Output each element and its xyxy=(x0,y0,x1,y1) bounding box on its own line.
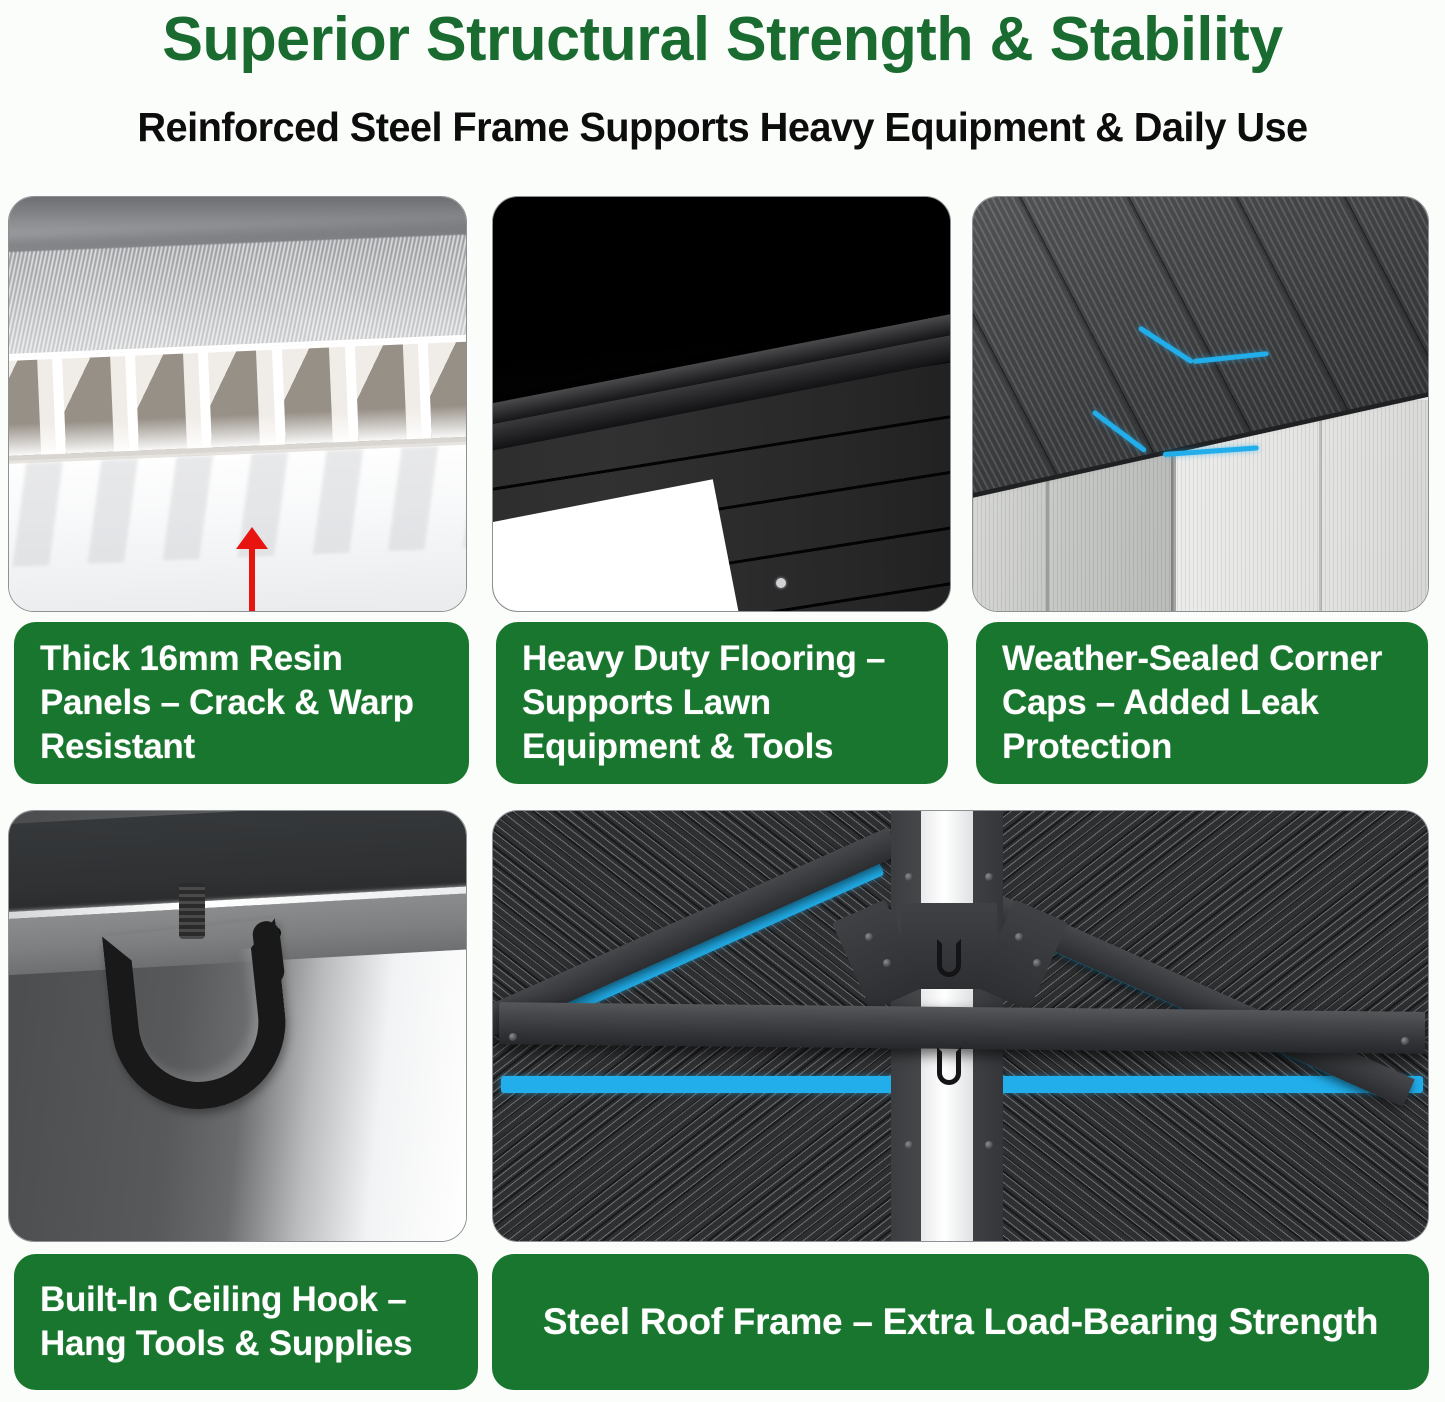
feature-image-resin-panels: 16mm xyxy=(8,196,467,612)
page-title: Superior Structural Strength & Stability xyxy=(11,4,1434,75)
feature-caption-text: Weather-Sealed Corner Caps – Added Leak … xyxy=(1002,637,1402,769)
roof-bolt xyxy=(509,1033,517,1041)
roof-bolt xyxy=(883,959,891,967)
resin-panel-hollow-core xyxy=(8,333,467,464)
feature-caption-text: Steel Roof Frame – Extra Load-Bearing St… xyxy=(543,1299,1378,1346)
roof-hanging-hook-lower-icon xyxy=(937,1047,961,1085)
roof-hanging-hook-icon xyxy=(937,939,961,977)
feature-caption-text: Built-In Ceiling Hook – Hang Tools & Sup… xyxy=(40,1278,452,1366)
resin-panel-cell xyxy=(135,353,212,451)
roof-bolt xyxy=(985,873,993,881)
resin-panel-cell xyxy=(281,346,358,444)
roof-bolt xyxy=(1401,1037,1409,1045)
ceiling-hook-icon xyxy=(105,883,315,1133)
feature-caption-ceiling-hook: Built-In Ceiling Hook – Hang Tools & Sup… xyxy=(14,1254,478,1390)
roof-bolt xyxy=(1033,959,1041,967)
infographic-page: Superior Structural Strength & Stability… xyxy=(0,0,1445,1402)
feature-caption-steel-roof-frame: Steel Roof Frame – Extra Load-Bearing St… xyxy=(492,1254,1429,1390)
feature-image-ceiling-hook xyxy=(8,810,467,1242)
dimension-line xyxy=(249,545,255,612)
roof-bolt xyxy=(985,1141,993,1149)
resin-panel-cell xyxy=(62,356,139,454)
roof-bolt xyxy=(1015,933,1023,941)
feature-image-heavy-duty-flooring xyxy=(492,196,951,612)
feature-caption-corner-caps: Weather-Sealed Corner Caps – Added Leak … xyxy=(976,622,1428,784)
feature-caption-resin-panels: Thick 16mm Resin Panels – Crack & Warp R… xyxy=(14,622,469,784)
roof-bolt xyxy=(905,1141,913,1149)
resin-panel-cell xyxy=(427,340,467,438)
page-subtitle: Reinforced Steel Frame Supports Heavy Eq… xyxy=(22,104,1424,151)
feature-image-corner-caps xyxy=(972,196,1429,612)
resin-panel-cell xyxy=(8,359,66,457)
roof-bolt xyxy=(905,873,913,881)
resin-panel-cell xyxy=(208,349,285,447)
feature-caption-text: Thick 16mm Resin Panels – Crack & Warp R… xyxy=(40,637,443,769)
feature-caption-heavy-duty-flooring: Heavy Duty Flooring – Supports Lawn Equi… xyxy=(496,622,948,784)
roof-bolt xyxy=(865,933,873,941)
wall-panel-seam xyxy=(1319,412,1322,612)
resin-panel-cell xyxy=(354,343,431,441)
feature-caption-text: Heavy Duty Flooring – Supports Lawn Equi… xyxy=(522,637,922,769)
feature-image-steel-roof-frame xyxy=(492,810,1429,1242)
